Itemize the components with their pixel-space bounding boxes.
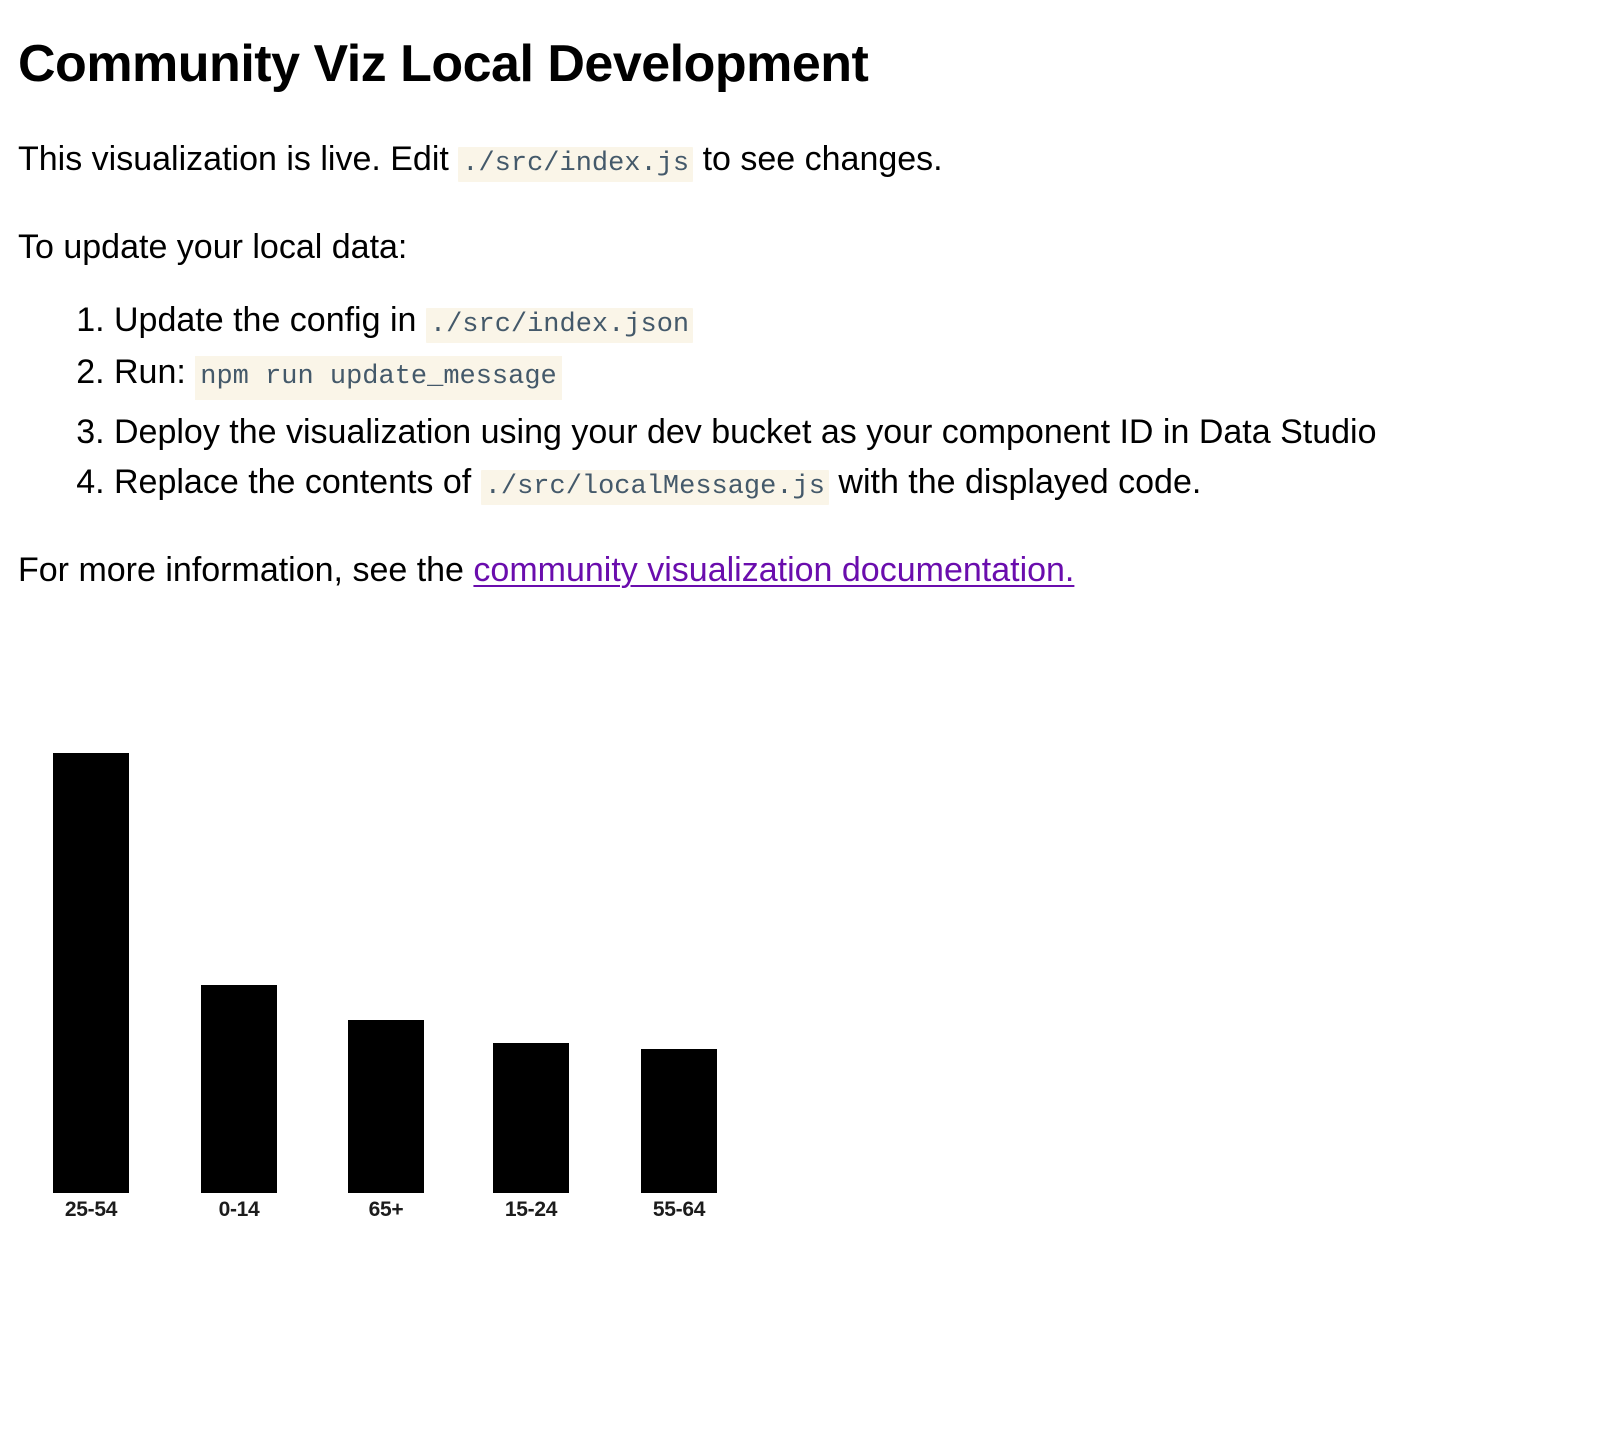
document-body: Community Viz Local Development This vis…: [18, 34, 1578, 593]
bar-chart: 25-540-1465+15-2455-64: [0, 700, 800, 1260]
bar-25-54[interactable]: [53, 753, 129, 1193]
step-2-text-before: Run:: [114, 353, 186, 391]
list-item: Run: npm run update_message: [114, 348, 1578, 406]
list-item: Update the config in ./src/index.json: [114, 298, 1578, 344]
bar-0-14[interactable]: [201, 985, 277, 1193]
more-info-text-before: For more information, see the: [18, 551, 473, 589]
intro-text-before: This visualization is live. Edit: [18, 140, 458, 178]
step-2-command-codeblock: npm run update_message: [195, 356, 561, 400]
bar-label-25-54: 25-54: [65, 1198, 118, 1221]
intro-paragraph: This visualization is live. Edit ./src/i…: [18, 137, 1578, 183]
bar-label-65+: 65+: [369, 1198, 404, 1221]
bar-label-55-64: 55-64: [653, 1198, 706, 1221]
bar-65+[interactable]: [348, 1020, 424, 1193]
step-1-code-path: ./src/index.json: [426, 308, 693, 343]
intro-code-path: ./src/index.js: [458, 147, 693, 182]
community-visualization-documentation-link[interactable]: community visualization documentation.: [473, 551, 1074, 589]
steps-list: Update the config in ./src/index.json Ru…: [18, 298, 1578, 506]
more-info-paragraph: For more information, see the community …: [18, 548, 1578, 593]
bar-category-labels: 25-540-1465+15-2455-64: [65, 1198, 706, 1221]
list-item: Deploy the visualization using your dev …: [114, 410, 1578, 456]
step-3-text: Deploy the visualization using your dev …: [114, 413, 1376, 451]
bar-chart-svg: 25-540-1465+15-2455-64: [0, 700, 800, 1260]
bar-label-0-14: 0-14: [219, 1198, 260, 1221]
bar-series: [53, 753, 717, 1193]
bar-label-15-24: 15-24: [505, 1198, 558, 1221]
list-item: Replace the contents of ./src/localMessa…: [114, 460, 1578, 506]
page-title: Community Viz Local Development: [18, 34, 1578, 95]
step-1-text-before: Update the config in: [114, 301, 426, 339]
lead-in-paragraph: To update your local data:: [18, 225, 1578, 270]
step-4-text-after: with the displayed code.: [829, 463, 1201, 501]
step-4-code-path: ./src/localMessage.js: [481, 470, 829, 505]
step-4-text-before: Replace the contents of: [114, 463, 481, 501]
bar-15-24[interactable]: [493, 1043, 569, 1193]
intro-text-after: to see changes.: [693, 140, 943, 178]
page-root: Community Viz Local Development This vis…: [0, 0, 1600, 1435]
bar-55-64[interactable]: [641, 1049, 717, 1193]
